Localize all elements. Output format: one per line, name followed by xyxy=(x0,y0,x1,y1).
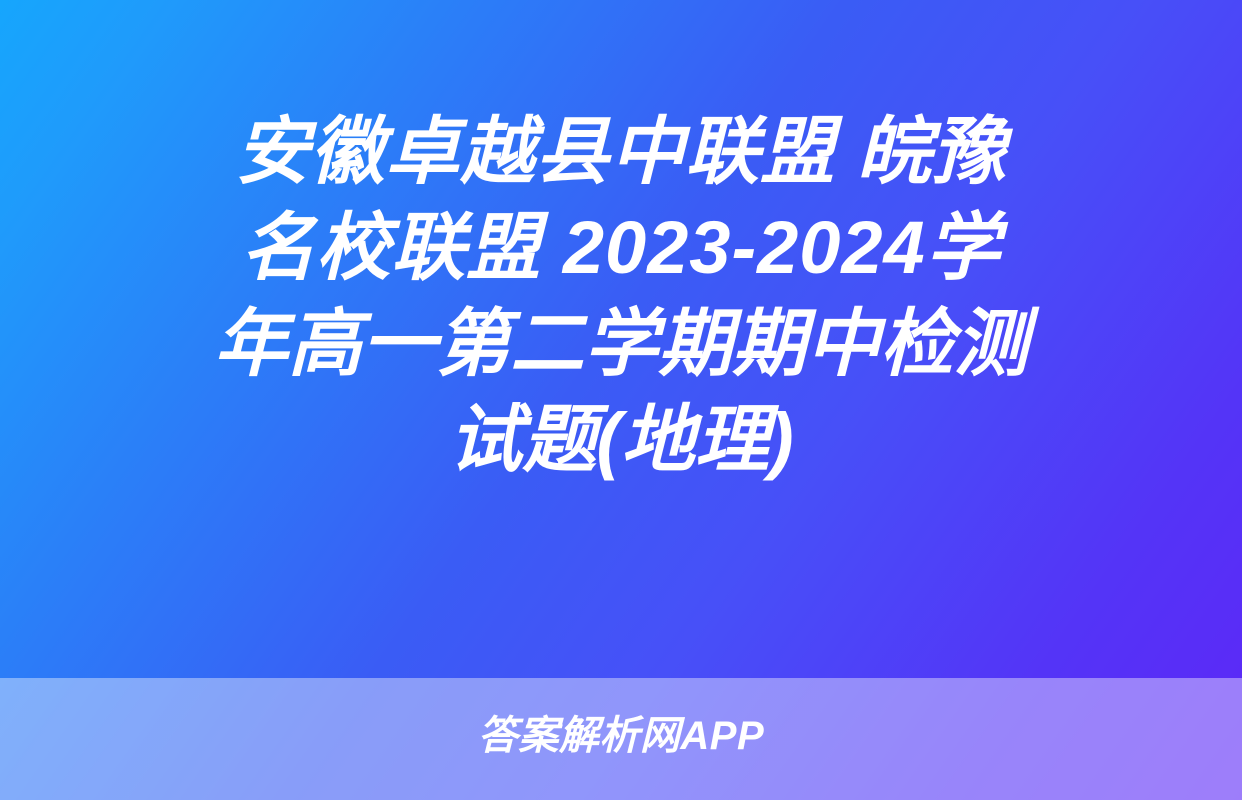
title-line-2: 名校联盟 2023-2024学 xyxy=(78,200,1164,296)
page-title: 安徽卓越县中联盟 皖豫 名校联盟 2023-2024学 年高一第二学期期中检测 … xyxy=(0,104,1242,488)
exam-title-poster: 安徽卓越县中联盟 皖豫 名校联盟 2023-2024学 年高一第二学期期中检测 … xyxy=(0,0,1242,800)
title-line-1: 安徽卓越县中联盟 皖豫 xyxy=(78,104,1164,200)
watermark-text: 答案解析网APP xyxy=(478,714,764,758)
title-line-3: 年高一第二学期期中检测 xyxy=(78,296,1164,392)
watermark-band: 答案解析网APP xyxy=(0,678,1242,800)
title-line-4: 试题(地理) xyxy=(78,392,1164,488)
